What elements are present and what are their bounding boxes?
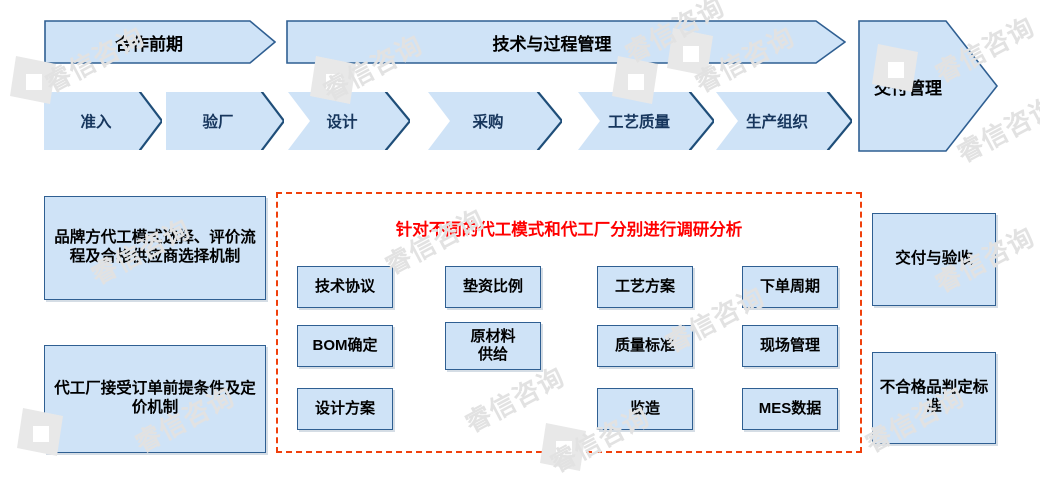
center-item-box[interactable]: 原材料 供给 <box>445 322 541 370</box>
phase-chevron-caigou[interactable]: 采购 <box>428 92 562 150</box>
center-item-box[interactable]: 现场管理 <box>742 325 838 367</box>
banner-tech-process-management[interactable]: 技术与过程管理 <box>286 20 846 64</box>
right-box-delivery-acceptance[interactable]: 交付与验收 <box>872 213 996 306</box>
center-item-box[interactable]: 技术协议 <box>297 266 393 308</box>
center-item-label: 设计方案 <box>315 400 375 418</box>
right-box-label: 不合格品判定标准 <box>879 379 989 417</box>
right-box-nonconforming-criteria[interactable]: 不合格品判定标准 <box>872 352 996 444</box>
center-item-label: 下单周期 <box>760 278 820 296</box>
center-item-box[interactable]: BOM确定 <box>297 325 393 367</box>
diagram-canvas: 睿信咨询 睿信咨询 睿信咨询 睿信咨询 睿信咨询 睿信咨询 睿信咨询 睿信咨询 … <box>0 0 1040 478</box>
banner-cooperation-early-stage[interactable]: 合作前期 <box>44 20 276 64</box>
center-item-label: BOM确定 <box>313 337 378 355</box>
center-item-label: 现场管理 <box>760 337 820 355</box>
left-box-label: 品牌方代工模式选择、评价流程及合格供应商选择机制 <box>51 229 259 267</box>
center-item-box[interactable]: MES数据 <box>742 388 838 430</box>
phase-chevron-sheji[interactable]: 设计 <box>288 92 410 150</box>
center-item-label: 质量标准 <box>615 337 675 355</box>
center-item-box[interactable]: 质量标准 <box>597 325 693 367</box>
phase-label: 验厂 <box>166 92 284 150</box>
phase-chevron-gongyizhiliang[interactable]: 工艺质量 <box>578 92 714 150</box>
center-item-label: 垫资比例 <box>463 278 523 296</box>
center-item-label: 技术协议 <box>315 278 375 296</box>
stage-delivery-management[interactable]: 交付管理 <box>858 20 998 152</box>
center-item-label: 监造 <box>630 400 660 418</box>
research-analysis-title: 针对不同的代工模式和代工厂分别进行调研分析 <box>276 216 862 240</box>
phase-chevron-yanchang[interactable]: 验厂 <box>166 92 284 150</box>
phase-label: 设计 <box>288 92 410 150</box>
center-item-label: MES数据 <box>759 400 822 418</box>
phase-label: 准入 <box>44 92 162 150</box>
center-item-box[interactable]: 监造 <box>597 388 693 430</box>
left-box-oem-order-conditions[interactable]: 代工厂接受订单前提条件及定价机制 <box>44 345 266 453</box>
phase-label: 采购 <box>428 92 562 150</box>
center-item-label: 工艺方案 <box>615 278 675 296</box>
banner-label: 合作前期 <box>44 30 276 55</box>
center-item-box[interactable]: 下单周期 <box>742 266 838 308</box>
center-item-box[interactable]: 工艺方案 <box>597 266 693 308</box>
left-box-brand-oem-selection[interactable]: 品牌方代工模式选择、评价流程及合格供应商选择机制 <box>44 196 266 300</box>
center-item-box[interactable]: 垫资比例 <box>445 266 541 308</box>
left-box-label: 代工厂接受订单前提条件及定价机制 <box>51 380 259 418</box>
phase-label: 工艺质量 <box>578 92 714 150</box>
center-item-box[interactable]: 设计方案 <box>297 388 393 430</box>
phase-chevron-zhunru[interactable]: 准入 <box>44 92 162 150</box>
phase-chevron-shengchanzuzhi[interactable]: 生产组织 <box>716 92 852 150</box>
center-item-label: 原材料 供给 <box>470 328 515 365</box>
stage-delivery-label: 交付管理 <box>858 20 998 152</box>
phase-label: 生产组织 <box>716 92 852 150</box>
banner-label: 技术与过程管理 <box>286 30 846 55</box>
right-box-label: 交付与验收 <box>895 250 973 269</box>
